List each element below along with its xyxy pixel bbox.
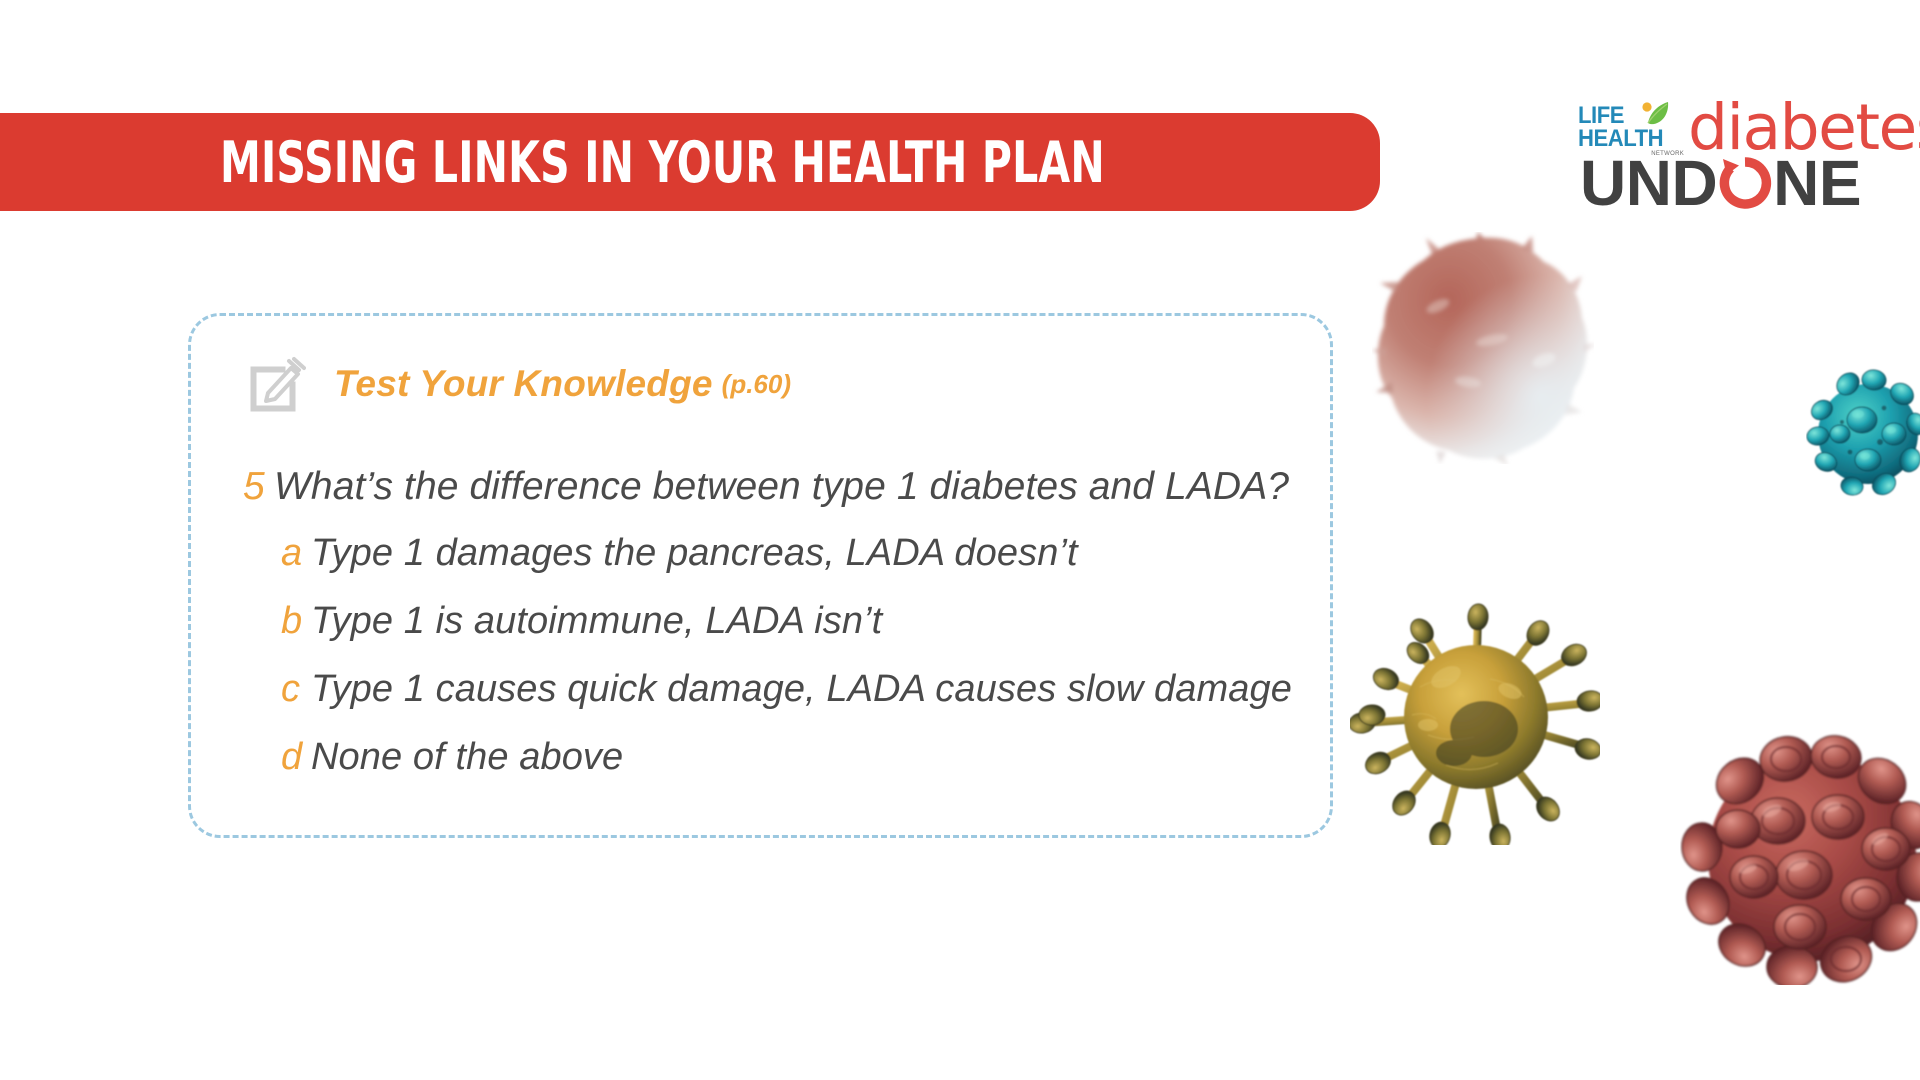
answer-text: Type 1 damages the pancreas, LADA doesn’… bbox=[311, 532, 1078, 575]
answer-options-list: a Type 1 damages the pancreas, LADA does… bbox=[281, 532, 1292, 804]
page-title: MISSING LINKS IN YOUR HEALTH PLAN bbox=[220, 118, 1116, 208]
logo-ne-text: NE bbox=[1773, 152, 1861, 214]
teal-virus-image bbox=[1806, 368, 1920, 498]
answer-letter: c bbox=[281, 668, 311, 711]
answer-text: Type 1 causes quick damage, LADA causes … bbox=[311, 668, 1292, 711]
page-reference: (p.60) bbox=[722, 369, 791, 400]
white-blood-cell-image bbox=[1372, 232, 1594, 464]
answer-option-c[interactable]: c Type 1 causes quick damage, LADA cause… bbox=[281, 668, 1292, 736]
edit-pencil-square-icon bbox=[248, 355, 306, 413]
yellow-virus-image bbox=[1350, 595, 1600, 845]
answer-option-d[interactable]: d None of the above bbox=[281, 736, 1292, 804]
question-text: What’s the difference between type 1 dia… bbox=[274, 465, 1289, 509]
circular-arrow-icon bbox=[1718, 156, 1772, 210]
brand-logo: LIFE HEALTH NETWORK diabetes UND NE bbox=[1578, 100, 1898, 210]
logo-life-text: LIFE bbox=[1578, 104, 1677, 127]
answer-letter: d bbox=[281, 736, 311, 779]
answer-text: Type 1 is autoimmune, LADA isn’t bbox=[311, 600, 882, 643]
red-virus-image bbox=[1680, 715, 1920, 985]
answer-option-b[interactable]: b Type 1 is autoimmune, LADA isn’t bbox=[281, 600, 1292, 668]
question-number: 5 bbox=[243, 465, 274, 509]
slide-canvas: MISSING LINKS IN YOUR HEALTH PLAN LIFE H… bbox=[0, 0, 1920, 1080]
test-your-knowledge-label: Test Your Knowledge bbox=[334, 363, 713, 405]
answer-letter: a bbox=[281, 532, 311, 575]
answer-option-a[interactable]: a Type 1 damages the pancreas, LADA does… bbox=[281, 532, 1292, 600]
logo-undone-text: UND NE bbox=[1580, 152, 1861, 214]
logo-und-text: UND bbox=[1580, 152, 1717, 214]
test-your-knowledge-header: Test Your Knowledge (p.60) bbox=[248, 355, 791, 413]
answer-letter: b bbox=[281, 600, 311, 643]
question: 5 What’s the difference between type 1 d… bbox=[243, 465, 1289, 509]
answer-text: None of the above bbox=[311, 736, 623, 779]
